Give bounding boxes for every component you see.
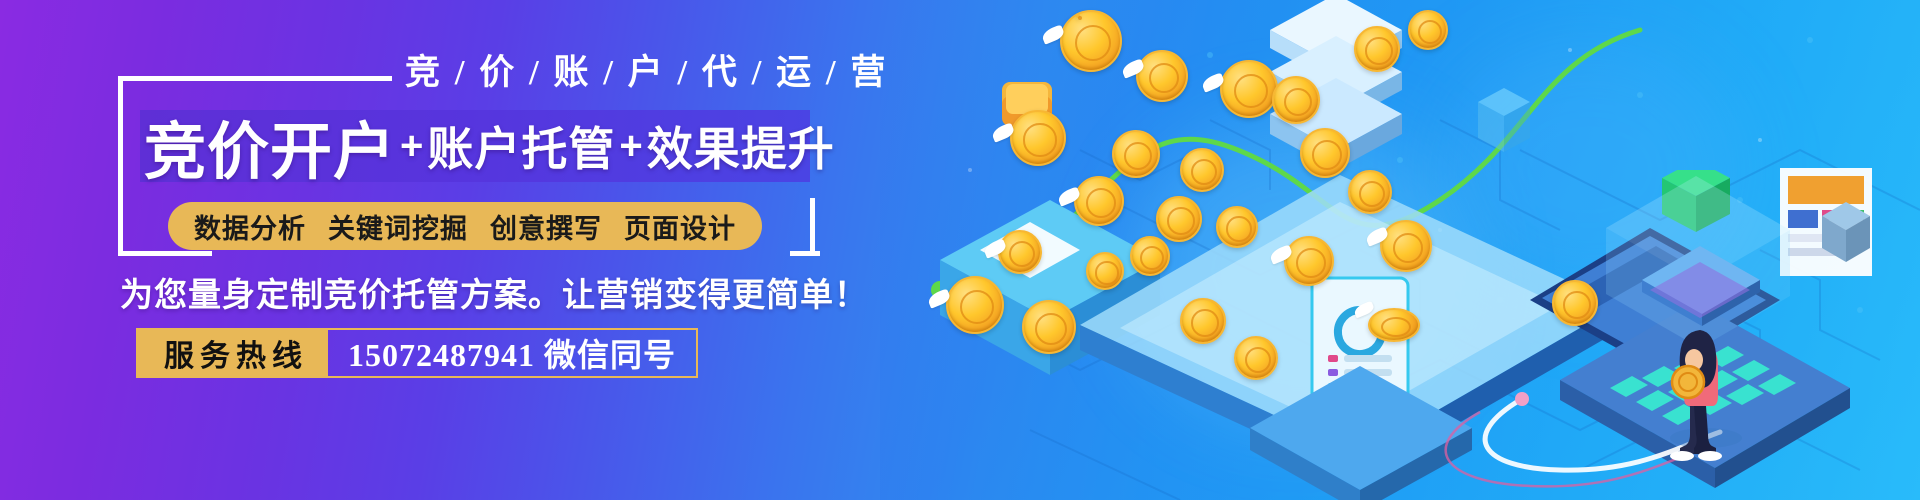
hotline-value[interactable]: 15072487941 微信同号: [328, 330, 696, 376]
coin-icon: [998, 230, 1042, 274]
headline-plus-2: +: [615, 124, 646, 169]
coin-icon: [1354, 26, 1400, 72]
coin-icon: [1180, 298, 1226, 344]
coin-icon: [1010, 110, 1066, 166]
coin-icon: [1348, 170, 1392, 214]
service-item-keyword-mining: 关键词挖掘: [328, 207, 468, 246]
coin-icon: [1022, 300, 1076, 354]
coin-icon: [1076, 14, 1080, 18]
coin-icon: [1408, 10, 1448, 50]
coin-icon: [1086, 252, 1124, 290]
headline-part-3: 效果提升: [647, 113, 835, 179]
coin-icon: [1112, 130, 1160, 178]
coin-icon: [1156, 196, 1202, 242]
coin-icon: [1130, 236, 1170, 276]
tagline-text: 为您量身定制竞价托管方案。让营销变得更简单！: [120, 268, 868, 316]
headline-part-2: 账户托管: [427, 113, 615, 179]
coin-icon: [1300, 128, 1350, 178]
promo-banner: 竞 / 价 / 账 / 户 / 代 / 运 / 营 竞价开户 + 账户托管 + …: [0, 0, 1920, 500]
coin-icon: [1060, 10, 1122, 72]
coin-icon: [1220, 60, 1278, 118]
headline-plus-1: +: [396, 124, 427, 169]
coin-on-keyboard-icon: [1368, 308, 1420, 342]
service-item-page-design: 页面设计: [624, 207, 736, 246]
eyebrow-text: 竞 / 价 / 账 / 户 / 代 / 运 / 营: [405, 44, 888, 95]
hotline-label: 服务热线: [138, 330, 328, 376]
glass-cube-and-person-icon: [1570, 170, 1920, 500]
decorative-rule-bottom-right: [790, 251, 820, 256]
coin-icon: [1180, 148, 1224, 192]
headline-part-1: 竞价开户: [144, 101, 396, 191]
coin-icon: [1074, 176, 1124, 226]
coin-icon: [1136, 50, 1188, 102]
coin-icon: [1216, 206, 1258, 248]
coin-icon: [1272, 76, 1320, 124]
decorative-rule-right-vertical: [810, 198, 815, 256]
headline: 竞价开户 + 账户托管 + 效果提升: [144, 108, 835, 184]
services-pill: 数据分析 关键词挖掘 创意撰写 页面设计: [168, 202, 762, 250]
decorative-bracket: [118, 76, 136, 256]
decorative-rule-top: [132, 76, 392, 81]
illustration-scene: [880, 0, 1920, 500]
coin-icon: [1234, 336, 1278, 380]
service-item-creative-writing: 创意撰写: [490, 207, 602, 246]
coin-icon: [1552, 280, 1598, 326]
decorative-rule-bottom-left: [132, 251, 212, 256]
coin-icon: [1380, 220, 1432, 272]
service-item-data-analysis: 数据分析: [194, 207, 306, 246]
banner-copy: 竞 / 价 / 账 / 户 / 代 / 运 / 营 竞价开户 + 账户托管 + …: [0, 0, 930, 500]
hotline-bar: 服务热线 15072487941 微信同号: [136, 328, 698, 378]
coin-icon: [1284, 236, 1334, 286]
accent-cube-teal-icon: [1470, 80, 1540, 175]
coin-icon: [946, 276, 1004, 334]
